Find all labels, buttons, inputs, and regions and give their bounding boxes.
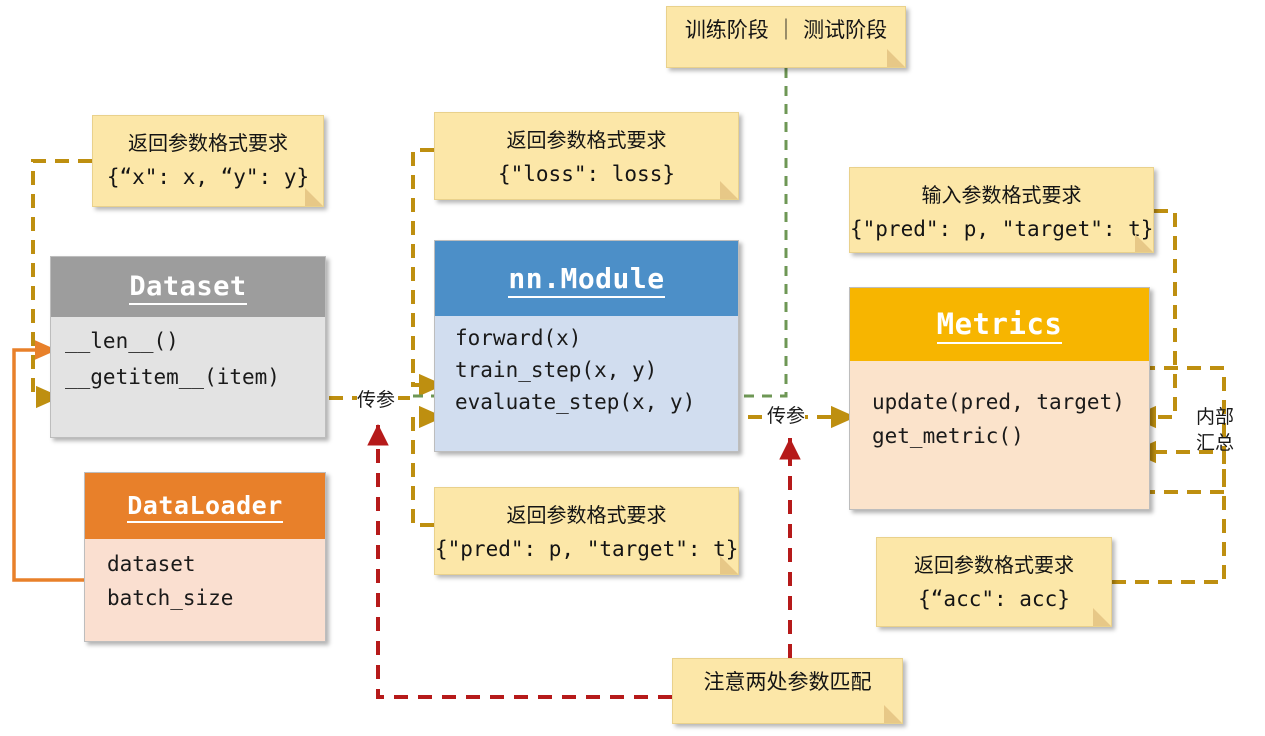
note-train-step-return-format[interactable]: 返回参数格式要求 {"loss": loss} xyxy=(434,112,739,200)
class-box-metrics[interactable]: Metrics update(pred, target) get_metric(… xyxy=(849,287,1150,510)
wire-label-internal-line1: 内部 xyxy=(1196,404,1234,430)
diagram-canvas: Dataset __len__() __getitem__(item) Data… xyxy=(0,0,1265,736)
note-param-match-warning[interactable]: 注意两处参数匹配 xyxy=(672,658,903,724)
nnmodule-method-forward[interactable]: forward(x) xyxy=(455,322,738,354)
note-xy-line1: 返回参数格式要求 xyxy=(93,126,323,160)
note-loss-line2: {"loss": loss} xyxy=(435,157,738,191)
nnmodule-header: nn.Module xyxy=(435,241,738,316)
class-box-dataset[interactable]: Dataset __len__() __getitem__(item) xyxy=(50,256,326,438)
metrics-members: update(pred, target) get_metric() xyxy=(850,361,1149,509)
note-fold-corner-icon xyxy=(1093,608,1111,626)
class-box-nnmodule[interactable]: nn.Module forward(x) train_step(x, y) ev… xyxy=(434,240,739,452)
note-match-text: 注意两处参数匹配 xyxy=(673,659,902,705)
class-box-dataloader[interactable]: DataLoader dataset batch_size xyxy=(84,472,326,642)
dataset-members: __len__() __getitem__(item) xyxy=(51,317,325,437)
dataset-method-getitem[interactable]: __getitem__(item) xyxy=(65,359,325,395)
note-inpred-line1: 输入参数格式要求 xyxy=(850,178,1153,212)
note-pred-line1: 返回参数格式要求 xyxy=(435,498,738,532)
note-stage-title[interactable]: 训练阶段 ｜ 测试阶段 xyxy=(666,6,906,68)
dataset-header: Dataset xyxy=(51,257,325,317)
note-dataset-return-format[interactable]: 返回参数格式要求 {“x": x, “y": y} xyxy=(92,115,324,207)
note-fold-corner-icon xyxy=(1135,234,1153,252)
nnmodule-title: nn.Module xyxy=(508,262,664,298)
dataloader-attr-batch-size[interactable]: batch_size xyxy=(107,581,325,615)
note-pred-line2: {"pred": p, "target": t} xyxy=(435,532,738,566)
wire-label-internal-aggregate: 内部 汇总 xyxy=(1196,404,1234,456)
metrics-method-update[interactable]: update(pred, target) xyxy=(872,385,1149,419)
metrics-method-get-metric[interactable]: get_metric() xyxy=(872,419,1149,453)
dataset-method-len[interactable]: __len__() xyxy=(65,323,325,359)
note-acc-line1: 返回参数格式要求 xyxy=(877,548,1111,582)
dataloader-attr-dataset[interactable]: dataset xyxy=(107,547,325,581)
note-loss-line1: 返回参数格式要求 xyxy=(435,123,738,157)
note-fold-corner-icon xyxy=(305,188,323,206)
wire-label-pass-args-left: 传参 xyxy=(357,388,395,412)
note-fold-corner-icon xyxy=(884,705,902,723)
dataloader-title: DataLoader xyxy=(127,491,283,523)
note-stage-title-text: 训练阶段 ｜ 测试阶段 xyxy=(667,7,905,53)
metrics-title: Metrics xyxy=(937,307,1063,344)
note-xy-line2: {“x": x, “y": y} xyxy=(93,160,323,194)
note-acc-line2: {“acc": acc} xyxy=(877,582,1111,616)
note-fold-corner-icon xyxy=(720,181,738,199)
note-inpred-line2: {"pred": p, "target": t} xyxy=(850,212,1153,246)
note-metrics-return-format[interactable]: 返回参数格式要求 {“acc": acc} xyxy=(876,537,1112,627)
nnmodule-method-train-step[interactable]: train_step(x, y) xyxy=(455,354,738,386)
nnmodule-method-evaluate-step[interactable]: evaluate_step(x, y) xyxy=(455,386,738,418)
wire-label-pass-args-right: 传参 xyxy=(767,404,805,428)
note-evaluate-step-return-format[interactable]: 返回参数格式要求 {"pred": p, "target": t} xyxy=(434,487,739,575)
dataloader-members: dataset batch_size xyxy=(85,539,325,641)
nnmodule-members: forward(x) train_step(x, y) evaluate_ste… xyxy=(435,316,738,451)
metrics-header: Metrics xyxy=(850,288,1149,361)
note-fold-corner-icon xyxy=(887,49,905,67)
note-fold-corner-icon xyxy=(720,556,738,574)
dataloader-header: DataLoader xyxy=(85,473,325,539)
wire-label-internal-line2: 汇总 xyxy=(1196,430,1234,456)
note-metrics-input-format[interactable]: 输入参数格式要求 {"pred": p, "target": t} xyxy=(849,167,1154,253)
dataset-title: Dataset xyxy=(129,271,246,305)
